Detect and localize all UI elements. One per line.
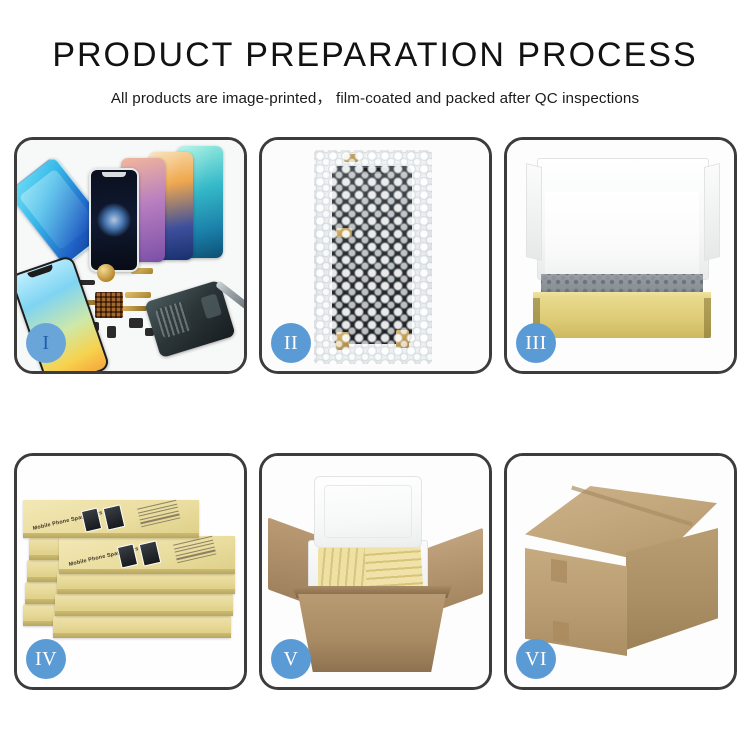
bubble-texture <box>314 150 432 364</box>
spare-part-chip-4 <box>129 318 143 328</box>
carton-tape-lower <box>553 621 569 644</box>
step-badge-4: IV <box>26 639 66 679</box>
step-badge-5: V <box>271 639 311 679</box>
step-badge-2: II <box>271 323 311 363</box>
product-preparation-process-page: PRODUCT PREPARATION PROCESS All products… <box>0 0 750 750</box>
step-badge-3: III <box>516 323 556 363</box>
step-2-illustration: II <box>262 140 489 371</box>
yellow-box-front <box>533 298 711 338</box>
process-step-5: V <box>259 453 492 690</box>
process-step-grid: I II <box>14 137 736 690</box>
bubble-wrap-bag <box>314 150 432 364</box>
stacked-box-labelled-front: Mobile Phone Spare Parts <box>59 536 235 574</box>
step-3-illustration: III <box>507 140 734 371</box>
vibration-motor-part <box>97 264 115 282</box>
step-badge-6: VI <box>516 639 556 679</box>
carton-body <box>298 594 446 672</box>
step-4-illustration: Mobile Phone Spare Parts Mobile Phone Sp… <box>17 456 244 687</box>
logic-board-part <box>95 292 123 318</box>
process-step-4: Mobile Phone Spare Parts Mobile Phone Sp… <box>14 453 247 690</box>
page-subtitle: All products are image-printed， film-coa… <box>0 86 750 108</box>
tempered-glass-screen <box>89 168 139 272</box>
foam-sheet <box>545 192 699 276</box>
process-step-3: III <box>504 137 737 374</box>
step-1-illustration: I <box>17 140 244 371</box>
page-title: PRODUCT PREPARATION PROCESS <box>0 38 750 72</box>
step-badge-1: I <box>26 323 66 363</box>
stacked-box-labelled-top: Mobile Phone Spare Parts <box>23 500 199 538</box>
process-step-2: II <box>259 137 492 374</box>
foam-box-lid <box>314 476 422 548</box>
process-step-6: VI <box>504 453 737 690</box>
stacked-box-right-1 <box>53 616 231 638</box>
step-6-illustration: VI <box>507 456 734 687</box>
process-step-1: I <box>14 137 247 374</box>
stacked-box-right-3 <box>57 572 235 594</box>
carton-tape-upper <box>551 559 567 584</box>
stacked-box-right-2 <box>55 594 233 616</box>
spare-part-connector-2 <box>125 292 151 298</box>
flex-cable-2 <box>121 306 147 311</box>
step-5-illustration: V <box>262 456 489 687</box>
page-header: PRODUCT PREPARATION PROCESS All products… <box>0 0 750 108</box>
spare-part-chip-3 <box>107 326 116 338</box>
